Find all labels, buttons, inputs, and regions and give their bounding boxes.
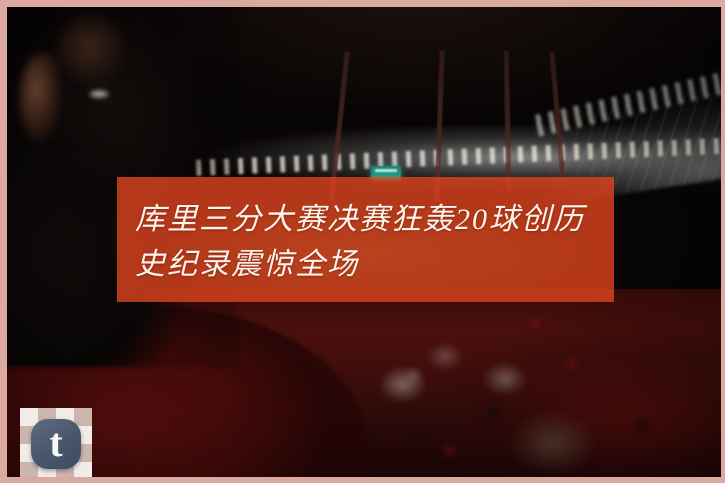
tumblr-icon-letter: t — [49, 423, 62, 463]
screenshot-root: 库里三分大赛决赛狂轰20球创历史纪录震惊全场 t — [0, 0, 725, 483]
stadium-photo: 库里三分大赛决赛狂轰20球创历史纪录震惊全场 t — [7, 7, 721, 477]
tumblr-icon[interactable]: t — [31, 419, 81, 469]
crowd-highlights — [337, 337, 637, 477]
headline-text: 库里三分大赛决赛狂轰20球创历史纪录震惊全场 — [135, 197, 596, 287]
spectator-head-highlight — [57, 15, 127, 85]
logo-watermark[interactable]: t — [16, 405, 96, 477]
specular-light-glint — [90, 91, 108, 97]
spectator-ear-highlight — [19, 53, 61, 141]
headline-banner: 库里三分大赛决赛狂轰20球创历史纪录震惊全场 — [117, 177, 614, 302]
